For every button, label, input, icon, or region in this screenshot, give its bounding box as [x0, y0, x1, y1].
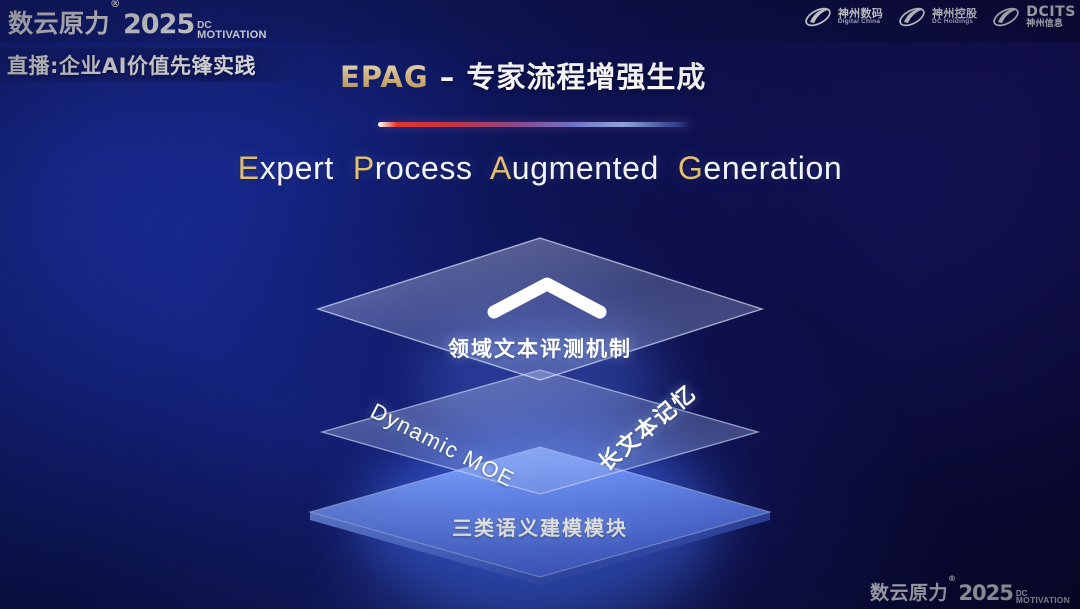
- subtitle-rest: xpert: [260, 150, 334, 186]
- partner-text: DCITS 神州信息: [1026, 5, 1076, 29]
- live-banner-label: 直播:企业AI价值先锋实践: [0, 50, 256, 80]
- subtitle-capital: E: [238, 150, 260, 186]
- layer-middle-label-right: 长文本记忆: [590, 376, 703, 478]
- partner-name-en: DC Holdings: [932, 19, 977, 26]
- stack-glow: [360, 430, 720, 609]
- brand-logo-watermark: 数云原力® 2025 DC MOTIVATION: [870, 578, 1070, 605]
- partner-text: 神州数码 Digital China: [838, 8, 883, 26]
- partner-name-en: DCITS: [1026, 5, 1076, 20]
- subtitle-word: Process: [353, 150, 473, 186]
- live-banner: 直播:企业AI价值先锋实践: [0, 48, 316, 82]
- brand-name-cn: 数云原力®: [8, 4, 121, 40]
- partner-logo-group: 神州数码 Digital China 神州控股 DC Holdings DCIT…: [803, 4, 1076, 30]
- partner-logo-digital-china: 神州数码 Digital China: [803, 4, 883, 30]
- subtitle-word: Expert: [238, 150, 334, 186]
- subtitle-capital: A: [490, 150, 512, 186]
- title-separator: –: [429, 60, 467, 94]
- subtitle-word: Generation: [678, 150, 842, 186]
- brand-motivation: MOTIVATION: [197, 30, 266, 40]
- layer-top-label: 领域文本评测机制: [0, 333, 1080, 363]
- subtitle-capital: P: [353, 150, 375, 186]
- title-chinese: 专家流程增强生成: [466, 60, 706, 94]
- partner-logo-dc-holdings: 神州控股 DC Holdings: [897, 4, 977, 30]
- slide-canvas: 数云原力® 2025 DC MOTIVATION 直播:企业AI价值先锋实践 神…: [0, 0, 1080, 609]
- slide-subtitle: Expert Process Augmented Generation: [0, 150, 1080, 187]
- brand-dc-motivation: DC MOTIVATION: [197, 21, 266, 40]
- brand-motivation: MOTIVATION: [1016, 597, 1070, 605]
- layer-bottom-label: 三类语义建模模块: [0, 512, 1080, 541]
- registered-mark: ®: [110, 0, 121, 10]
- stack-glow-upper: [420, 300, 660, 460]
- layer-middle-label-left: Dynamic MOE: [366, 398, 519, 493]
- swoosh-icon: [803, 4, 833, 30]
- partner-text: 神州控股 DC Holdings: [932, 8, 977, 26]
- title-divider: [378, 122, 692, 127]
- subtitle-rest: rocess: [375, 150, 473, 186]
- brand-name-cn: 数云原力®: [870, 578, 956, 605]
- partner-name-cn: 神州信息: [1026, 20, 1076, 29]
- slide-title: EPAG – 专家流程增强生成: [340, 54, 706, 96]
- partner-name-en: Digital China: [838, 19, 883, 26]
- swoosh-icon: [897, 4, 927, 30]
- subtitle-word: Augmented: [490, 150, 659, 186]
- brand-dc-motivation: DC MOTIVATION: [1016, 590, 1070, 605]
- brand-year: 2025: [123, 9, 194, 40]
- brand-year: 2025: [958, 581, 1012, 605]
- registered-mark: ®: [948, 574, 956, 583]
- subtitle-capital: G: [678, 150, 704, 186]
- swoosh-icon: [991, 4, 1021, 30]
- partner-logo-dcits: DCITS 神州信息: [991, 4, 1076, 30]
- brand-logo-primary: 数云原力® 2025 DC MOTIVATION: [8, 4, 267, 40]
- subtitle-rest: eneration: [703, 150, 842, 186]
- chevron-up-icon: [486, 276, 608, 320]
- title-acronym: EPAG: [340, 60, 429, 94]
- subtitle-rest: ugmented: [512, 150, 659, 186]
